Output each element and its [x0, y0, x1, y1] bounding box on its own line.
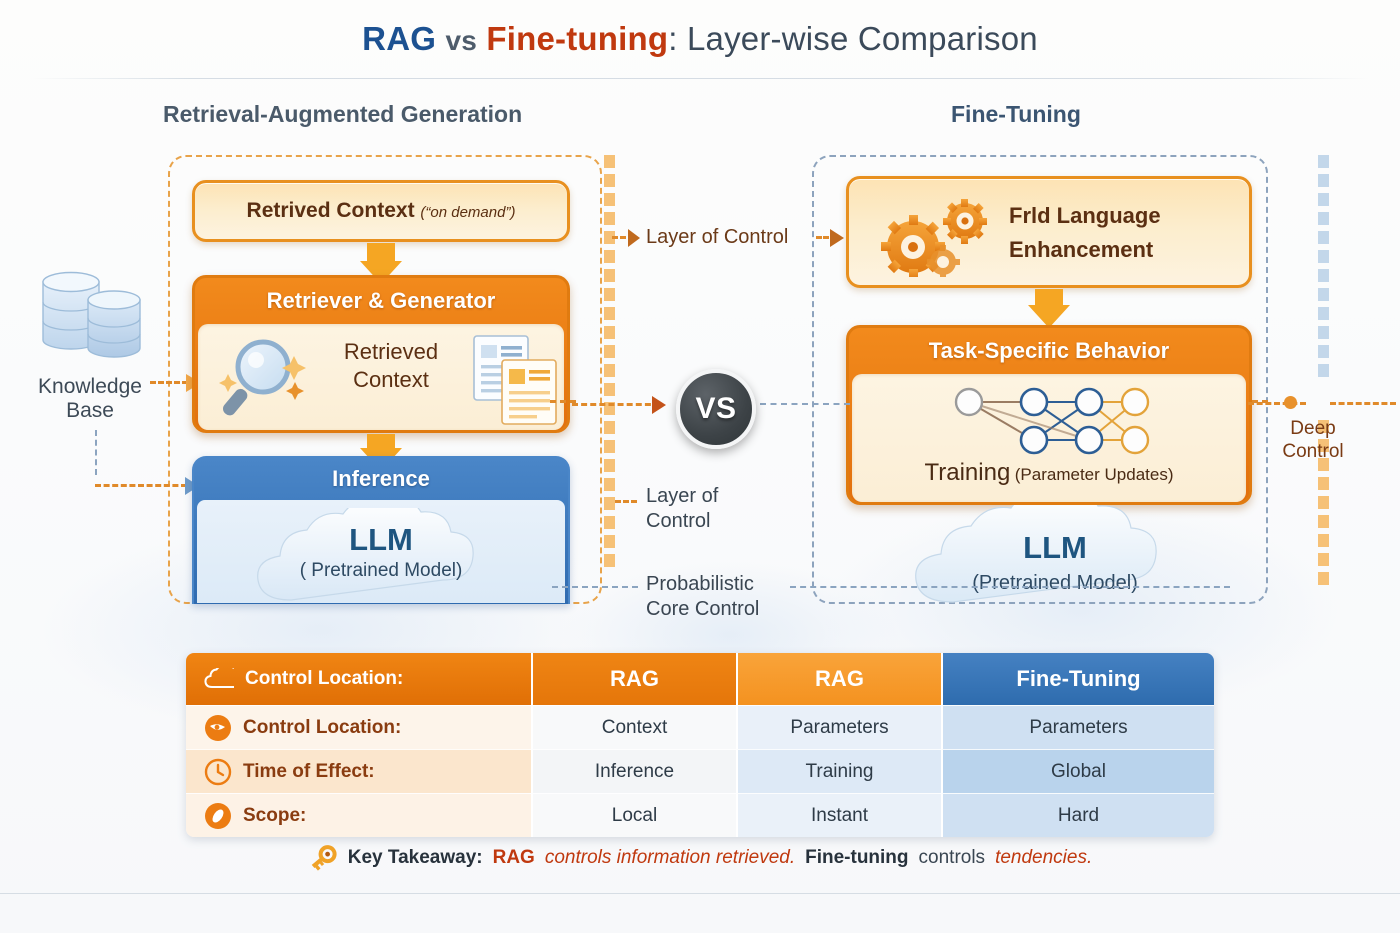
target-icon: [204, 714, 232, 742]
table-header-label-cell: Control Location:: [186, 653, 531, 705]
row-v1-1: Inference: [531, 749, 736, 793]
column-heading-rag: Retrieval-Augmented Generation: [163, 101, 522, 128]
table-row: Control Location: Context Parameters Par…: [186, 705, 1214, 749]
neural-network-icon: [939, 382, 1159, 460]
retrieved-context-line1: Retrieved: [344, 339, 438, 364]
layer-control-mid-dash: [615, 500, 637, 503]
kb-line1: Knowledge: [38, 375, 142, 398]
layer-ladder-right: [1318, 155, 1329, 395]
llm-subtitle-left: ( Pretrained Model): [197, 560, 565, 582]
training-subtitle: (Parameter Updates): [1015, 465, 1174, 484]
inference-card[interactable]: Inference LLM ( Pretrained Model): [192, 456, 570, 604]
inference-header: Inference: [194, 458, 568, 500]
knowledge-base-label: Knowledge Base: [10, 375, 170, 423]
retrieved-context-line2: Context: [353, 367, 429, 392]
oval-icon: [204, 802, 232, 830]
kb-to-inference-connector: [95, 484, 187, 487]
table-row: Scope: Local Instant Hard: [186, 793, 1214, 837]
table-header-rag2: RAG: [736, 653, 941, 705]
task-specific-header: Task-Specific Behavior: [849, 328, 1249, 374]
takeaway-rag-text: controls information retrieved.: [545, 847, 795, 869]
table-row: Time of Effect: Inference Training Globa…: [186, 749, 1214, 793]
llm-title-left: LLM: [197, 522, 565, 558]
probabilistic-core-control-label: Probabilistic Core Control: [646, 572, 759, 622]
knowledge-base-icon: [35, 262, 170, 367]
row-label-cell-1: Time of Effect:: [186, 749, 531, 793]
probabilistic-left-dash: [552, 586, 638, 588]
layer-of-control-mid-label: Layer of Control: [646, 484, 718, 534]
vs-badge: VS: [676, 369, 756, 449]
title-vs: vs: [445, 25, 477, 56]
retrieved-context-subtitle: (“on demand”): [420, 204, 515, 221]
magnifier-icon: [216, 336, 312, 422]
kb-line2: Base: [66, 399, 114, 422]
title-divider: [30, 78, 1370, 79]
layer-control-right-tri: [830, 229, 844, 247]
field-language-text: Frld Language Enhancement: [1009, 199, 1247, 267]
documents-icon: [470, 332, 562, 426]
row-label-cell-0: Control Location:: [186, 705, 531, 749]
retrieved-context-title-text: Retrived Context: [247, 199, 415, 222]
training-text: Training (Parameter Updates): [852, 459, 1246, 487]
training-title: Training: [924, 459, 1010, 486]
vs-left-tri: [652, 396, 666, 414]
table-header-rag1: RAG: [531, 653, 736, 705]
title-finetuning: Fine-tuning: [486, 20, 668, 57]
field-language-line2: Enhancement: [1009, 237, 1153, 262]
probabilistic-l1: Probabilistic: [646, 573, 754, 595]
row-v1-2: Local: [531, 793, 736, 837]
title-rest: : Layer-wise Comparison: [668, 20, 1038, 57]
llm-subtitle-right: (Pretrained Model): [905, 572, 1205, 595]
row-v2-2: Instant: [736, 793, 941, 837]
layer-control-mid-l1: Layer of: [646, 485, 718, 507]
vs-left-dash: [572, 403, 660, 406]
kb-to-retriever-connector: [150, 381, 188, 384]
deep-control-l1: Deep: [1290, 418, 1335, 439]
retrieved-context-body-text: Retrieved Context: [316, 338, 466, 393]
retriever-generator-header: Retriever & Generator: [195, 278, 567, 324]
retrieved-context-title: Retrived Context (“on demand”): [195, 199, 567, 223]
takeaway-label: Key Takeaway:: [348, 847, 483, 869]
field-language-enhancement-card[interactable]: Frld Language Enhancement: [846, 176, 1252, 288]
retriever-generator-card[interactable]: Retriever & Generator: [192, 275, 570, 433]
task-specific-behavior-card[interactable]: Task-Specific Behavior: [846, 325, 1252, 505]
deep-control-label: Deep Control: [1258, 418, 1368, 464]
page-title: RAG vs Fine-tuning: Layer-wise Compariso…: [0, 20, 1400, 58]
comparison-table: Control Location: RAG RAG Fine-Tuning Co…: [186, 653, 1214, 837]
deep-control-dash-right: [1330, 402, 1396, 405]
cloud-icon: [204, 668, 234, 690]
takeaway-ft-text: controls: [919, 847, 986, 869]
takeaway-rag: RAG: [493, 847, 535, 869]
key-takeaway: Key Takeaway: RAG controls information r…: [186, 845, 1214, 871]
row-label-text-2: Scope:: [243, 805, 306, 827]
key-icon: [308, 845, 338, 871]
deep-control-l2: Control: [1282, 441, 1343, 462]
column-heading-finetuning: Fine-Tuning: [951, 101, 1081, 128]
probabilistic-right-dash: [790, 586, 1230, 588]
kb-down-connector: [95, 430, 97, 475]
row-v1-0: Context: [531, 705, 736, 749]
deep-control-dot: [1284, 396, 1297, 409]
table-header-finetuning: Fine-Tuning: [941, 653, 1214, 705]
row-v3-1: Global: [941, 749, 1214, 793]
footer-divider: [0, 893, 1400, 894]
vs-right-dash: [760, 403, 850, 405]
probabilistic-l2: Core Control: [646, 598, 759, 620]
row-label-text-0: Control Location:: [243, 717, 401, 739]
takeaway-ft-emph: tendencies.: [995, 847, 1092, 869]
row-v2-0: Parameters: [736, 705, 941, 749]
field-language-line1: Frld Language: [1009, 203, 1161, 228]
infographic-canvas: RAG vs Fine-tuning: Layer-wise Compariso…: [0, 0, 1400, 933]
table-header-row: Control Location: RAG RAG Fine-Tuning: [186, 653, 1214, 705]
taskcard-right-stub: [1252, 400, 1268, 403]
layer-ladder-left: [604, 155, 615, 585]
retrieved-context-card[interactable]: Retrived Context (“on demand”): [192, 180, 570, 242]
row-label-cell-2: Scope:: [186, 793, 531, 837]
gears-icon: [871, 199, 999, 277]
layer-control-mid-l2: Control: [646, 510, 710, 532]
row-v2-1: Training: [736, 749, 941, 793]
retriever-right-stub: [550, 400, 576, 403]
layer-of-control-top-label: Layer of Control: [646, 226, 788, 249]
row-label-text-1: Time of Effect:: [243, 761, 375, 783]
row-v3-2: Hard: [941, 793, 1214, 837]
llm-title-right: LLM: [905, 530, 1205, 566]
takeaway-finetuning: Fine-tuning: [805, 847, 908, 869]
title-rag: RAG: [362, 20, 436, 57]
row-v3-0: Parameters: [941, 705, 1214, 749]
arrow-stem-1: [367, 243, 395, 263]
clock-icon: [204, 758, 232, 786]
layer-control-left-tri: [628, 229, 640, 247]
table-header-label-text: Control Location:: [245, 668, 403, 690]
